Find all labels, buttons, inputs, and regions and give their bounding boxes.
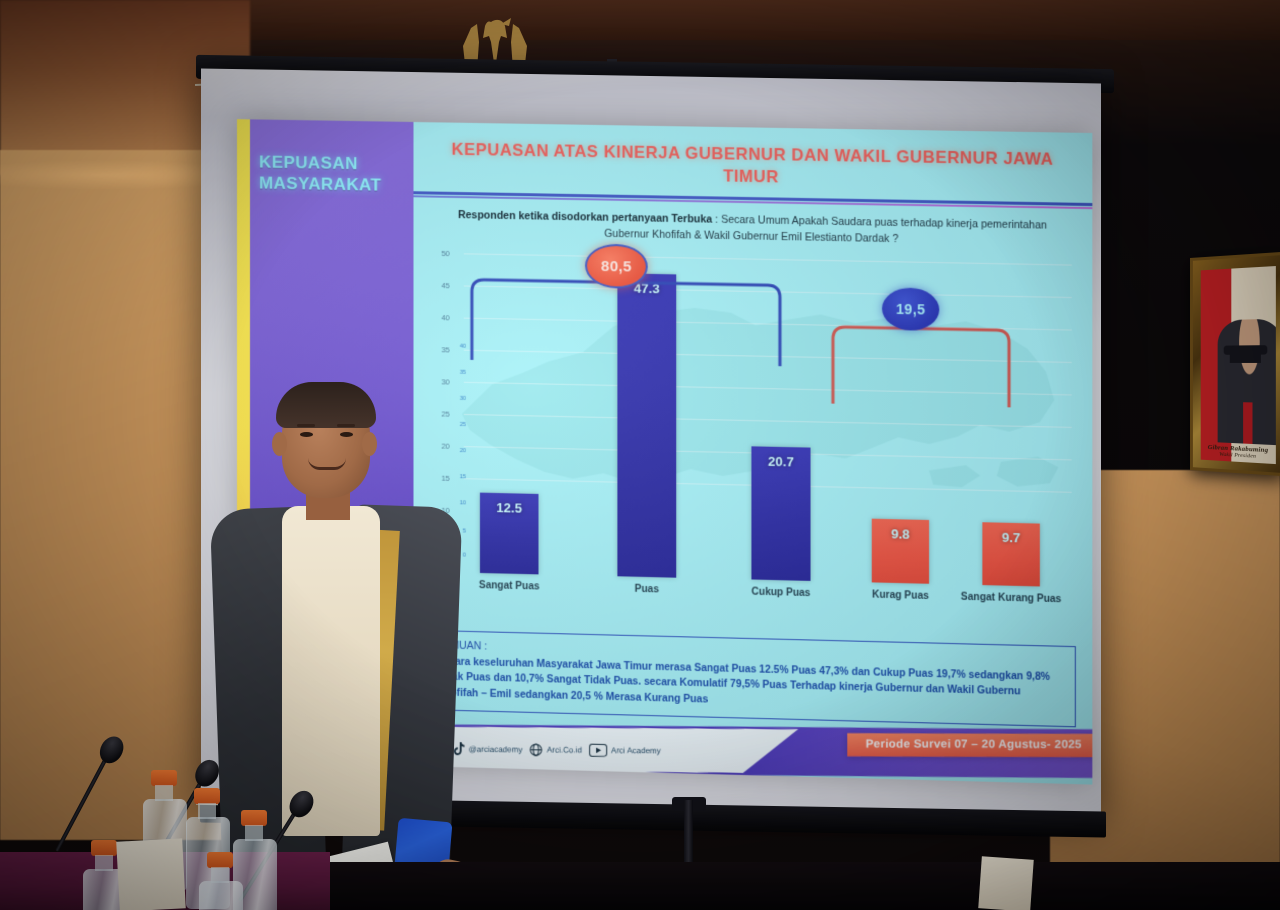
- kurang-puas-total-bracket: [825, 321, 1017, 412]
- portrait-peci: [1230, 346, 1261, 363]
- y-tick-label: 35: [428, 345, 450, 354]
- bar-category-label: Kurag Puas: [849, 588, 951, 603]
- bottle-cap: [194, 788, 220, 804]
- social-label-website: Arci.Co.id: [547, 745, 582, 754]
- bar-category-label: Cukup Puas: [729, 586, 833, 601]
- presenter-hair: [276, 382, 376, 428]
- social-youtube: Arci Academy: [589, 743, 661, 757]
- presenter-shirt: [282, 506, 380, 836]
- callout-bubble-kurang-total: 19,5: [882, 287, 939, 331]
- presenter-eye-left: [300, 432, 313, 437]
- bottle-cap: [151, 770, 177, 786]
- presenter-eye-right: [340, 432, 353, 437]
- bar-sangat-kurang-puas: 9.7 Sangat Kurang Puas: [982, 522, 1040, 586]
- presenter-ear-left: [272, 432, 287, 456]
- portrait-subtitle: Wakil Presiden: [1219, 452, 1256, 460]
- social-website: Arci.Co.id: [530, 743, 582, 756]
- presenter-smile: [308, 458, 346, 470]
- bottle-body: [199, 881, 243, 910]
- bottle-cap: [91, 840, 117, 856]
- bar-column-sangat-kurang-puas: 9.7 Sangat Kurang Puas: [982, 263, 1040, 586]
- globe-icon: [530, 743, 543, 756]
- portrait-necktie: [1243, 402, 1252, 444]
- bottle-cap: [207, 852, 233, 868]
- y-tick-label: 40: [428, 313, 450, 322]
- bar-category-label: Sangat Kurang Puas: [960, 591, 1063, 606]
- bar-kurag-puas: 9.8 Kurag Puas: [872, 519, 929, 583]
- slide-title-zone: KEPUASAN ATAS KINERJA GUBERNUR DAN WAKIL…: [413, 122, 1092, 206]
- napkin-holder: [116, 838, 186, 910]
- presenter-eyebrow-right: [337, 424, 355, 427]
- social-label-youtube: Arci Academy: [611, 745, 661, 754]
- bar-category-label: Puas: [595, 582, 698, 597]
- puas-total-bracket: [464, 273, 788, 370]
- y-tick-label: 45: [428, 281, 450, 290]
- napkin-holder-right: [978, 856, 1034, 910]
- callout-bubble-puas-total: 80,5: [585, 244, 648, 289]
- bar-value-label: 20.7: [751, 453, 810, 469]
- sidebar-title: KEPUASAN MASYARAKAT: [259, 152, 403, 197]
- youtube-icon: [589, 743, 607, 756]
- bottle-cap: [241, 810, 267, 826]
- table-surface: [300, 862, 1280, 910]
- slide-title: KEPUASAN ATAS KINERJA GUBERNUR DAN WAKIL…: [426, 138, 1080, 194]
- framed-portrait: Gibran Rakabuming Wakil Presiden: [1190, 252, 1280, 476]
- bar-value-label: 9.8: [872, 526, 929, 543]
- presenter-ear-right: [362, 432, 377, 456]
- y-tick-label-secondary: 35: [452, 370, 466, 376]
- presenter-eyebrow-left: [297, 424, 315, 427]
- survey-period-badge: Periode Survei 07 – 20 Agustus- 2025: [848, 733, 1093, 757]
- presentation-photo: Gibran Rakabuming Wakil Presiden KEPUASA…: [0, 0, 1280, 910]
- portrait-photo: Gibran Rakabuming Wakil Presiden: [1201, 266, 1276, 464]
- water-bottle-5: [198, 852, 244, 910]
- bar-value-label: 9.7: [982, 529, 1040, 546]
- portrait-caption: Gibran Rakabuming Wakil Presiden: [1201, 444, 1276, 461]
- bar-cukup-puas: 20.7 Cukup Puas: [751, 446, 810, 580]
- y-tick-label: 50: [428, 249, 450, 258]
- question-bold-part: Responden ketika disodorkan pertanyaan T…: [458, 209, 712, 226]
